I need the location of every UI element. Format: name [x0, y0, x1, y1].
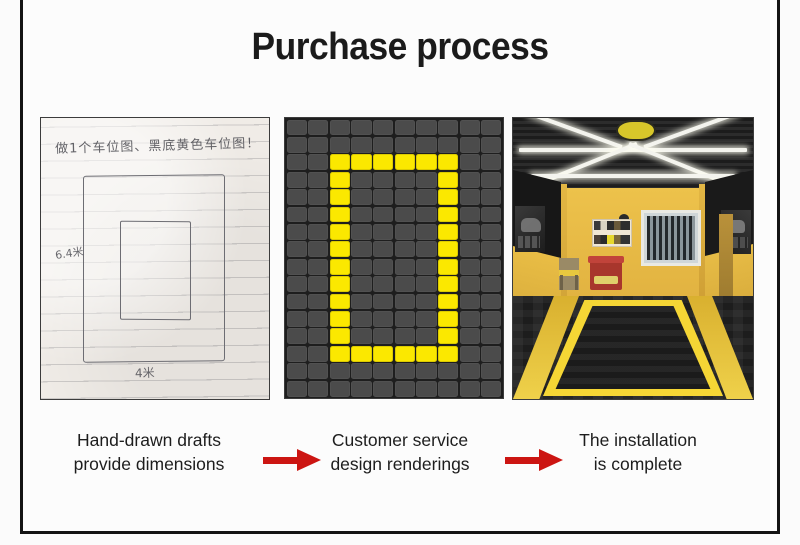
- wall-shelf: [592, 219, 632, 247]
- tile-r12-c8: [460, 328, 480, 344]
- step-2-image-tile-grid-rendering: [284, 117, 504, 399]
- tile-r11-c3: [351, 311, 371, 327]
- tile-r9-c4: [373, 276, 393, 292]
- shelf-row-top: [594, 221, 630, 230]
- tile-r12-c7: [438, 328, 458, 344]
- tile-r13-c5: [395, 346, 415, 362]
- tile-r6-c9: [481, 224, 501, 240]
- step-3-image-installation-photo: [512, 117, 754, 400]
- wooden-chair: [559, 258, 579, 290]
- step-3-caption-line-2: is complete: [538, 452, 738, 476]
- tile-r7-c6: [416, 241, 436, 257]
- tile-r5-c6: [416, 207, 436, 223]
- tile-r8-c2: [330, 259, 350, 275]
- tile-r15-c0: [287, 381, 307, 397]
- tile-r9-c0: [287, 276, 307, 292]
- tile-r14-c1: [308, 363, 328, 379]
- tile-r13-c6: [416, 346, 436, 362]
- tile-r8-c1: [308, 259, 328, 275]
- tile-r14-c4: [373, 363, 393, 379]
- tile-r2-c7: [438, 154, 458, 170]
- tile-r8-c8: [460, 259, 480, 275]
- tile-r10-c1: [308, 294, 328, 310]
- tile-r13-c4: [373, 346, 393, 362]
- tile-r5-c3: [351, 207, 371, 223]
- ceiling-light-1: [519, 148, 747, 152]
- tile-r11-c4: [373, 311, 393, 327]
- tile-r4-c1: [308, 189, 328, 205]
- tile-r1-c7: [438, 137, 458, 153]
- tile-r4-c0: [287, 189, 307, 205]
- tile-r10-c7: [438, 294, 458, 310]
- tile-r5-c2: [330, 207, 350, 223]
- tile-r0-c1: [308, 120, 328, 136]
- tile-r13-c0: [287, 346, 307, 362]
- tile-r7-c8: [460, 241, 480, 257]
- tile-r15-c8: [460, 381, 480, 397]
- step-3-caption-line-1: The installation: [538, 428, 738, 452]
- tile-r10-c9: [481, 294, 501, 310]
- tile-grid: [285, 118, 503, 398]
- poster-swatches-left: [518, 236, 540, 248]
- tile-r4-c3: [351, 189, 371, 205]
- step-2-caption-line-2: design renderings: [300, 452, 500, 476]
- tile-r15-c5: [395, 381, 415, 397]
- tile-r6-c8: [460, 224, 480, 240]
- tile-r2-c0: [287, 154, 307, 170]
- tile-r5-c8: [460, 207, 480, 223]
- tile-r7-c5: [395, 241, 415, 257]
- tile-r3-c0: [287, 172, 307, 188]
- tile-r5-c5: [395, 207, 415, 223]
- tile-r10-c3: [351, 294, 371, 310]
- tile-r11-c0: [287, 311, 307, 327]
- tile-r4-c4: [373, 189, 393, 205]
- tile-r1-c1: [308, 137, 328, 153]
- tile-r12-c5: [395, 328, 415, 344]
- tile-r6-c4: [373, 224, 393, 240]
- tile-r7-c9: [481, 241, 501, 257]
- tile-r1-c4: [373, 137, 393, 153]
- red-bench: [590, 256, 622, 290]
- tile-r13-c8: [460, 346, 480, 362]
- tile-r0-c6: [416, 120, 436, 136]
- tile-r8-c3: [351, 259, 371, 275]
- tile-r12-c2: [330, 328, 350, 344]
- tile-r3-c9: [481, 172, 501, 188]
- wall-poster-left: [515, 206, 545, 252]
- slide-frame-bottom: [20, 531, 780, 534]
- sketch-inner-rectangle: [120, 221, 191, 321]
- tile-r6-c2: [330, 224, 350, 240]
- tile-r12-c0: [287, 328, 307, 344]
- tile-r14-c3: [351, 363, 371, 379]
- tile-r8-c4: [373, 259, 393, 275]
- tile-r0-c9: [481, 120, 501, 136]
- tile-r2-c8: [460, 154, 480, 170]
- tile-r15-c6: [416, 381, 436, 397]
- tile-r1-c6: [416, 137, 436, 153]
- tile-r13-c9: [481, 346, 501, 362]
- tile-r0-c3: [351, 120, 371, 136]
- tile-r14-c9: [481, 363, 501, 379]
- tile-r8-c9: [481, 259, 501, 275]
- tile-r2-c2: [330, 154, 350, 170]
- poster-car-graphic-left: [521, 218, 541, 232]
- tile-r7-c2: [330, 241, 350, 257]
- tile-r15-c3: [351, 381, 371, 397]
- tile-r12-c6: [416, 328, 436, 344]
- tile-r0-c0: [287, 120, 307, 136]
- tile-r6-c5: [395, 224, 415, 240]
- tile-r1-c2: [330, 137, 350, 153]
- tile-r6-c1: [308, 224, 328, 240]
- step-1-caption-line-2: provide dimensions: [38, 452, 260, 476]
- tile-r7-c0: [287, 241, 307, 257]
- step-2-caption: Customer service design renderings: [300, 428, 500, 476]
- tile-r10-c8: [460, 294, 480, 310]
- tile-r0-c8: [460, 120, 480, 136]
- tile-r12-c1: [308, 328, 328, 344]
- bench-cushion: [594, 276, 618, 284]
- tile-r10-c6: [416, 294, 436, 310]
- tile-r8-c7: [438, 259, 458, 275]
- tile-r5-c7: [438, 207, 458, 223]
- tile-r11-c7: [438, 311, 458, 327]
- page-title: Purchase process: [49, 26, 750, 69]
- tile-r9-c7: [438, 276, 458, 292]
- tile-r15-c7: [438, 381, 458, 397]
- tile-r6-c0: [287, 224, 307, 240]
- tile-r11-c2: [330, 311, 350, 327]
- tile-r0-c5: [395, 120, 415, 136]
- tile-r9-c6: [416, 276, 436, 292]
- chair-leg-left: [560, 275, 563, 290]
- step-1-caption: Hand-drawn drafts provide dimensions: [38, 428, 260, 476]
- tile-r9-c5: [395, 276, 415, 292]
- tile-r14-c5: [395, 363, 415, 379]
- tile-r2-c3: [351, 154, 371, 170]
- tile-r14-c2: [330, 363, 350, 379]
- tile-r4-c7: [438, 189, 458, 205]
- tile-r9-c1: [308, 276, 328, 292]
- tile-r0-c4: [373, 120, 393, 136]
- tile-r2-c6: [416, 154, 436, 170]
- tile-r10-c2: [330, 294, 350, 310]
- slide-frame-left: [20, 0, 23, 534]
- tile-r4-c2: [330, 189, 350, 205]
- tile-r15-c4: [373, 381, 393, 397]
- step-2-caption-line-1: Customer service: [300, 428, 500, 452]
- tile-r0-c2: [330, 120, 350, 136]
- bench-top: [588, 256, 624, 263]
- step-3-caption: The installation is complete: [538, 428, 738, 476]
- tile-r4-c8: [460, 189, 480, 205]
- tile-r4-c5: [395, 189, 415, 205]
- tile-r1-c9: [481, 137, 501, 153]
- tile-r10-c0: [287, 294, 307, 310]
- tile-r11-c1: [308, 311, 328, 327]
- tile-r7-c3: [351, 241, 371, 257]
- tile-r3-c4: [373, 172, 393, 188]
- tile-r13-c1: [308, 346, 328, 362]
- tile-r15-c2: [330, 381, 350, 397]
- tile-r11-c6: [416, 311, 436, 327]
- tile-r3-c6: [416, 172, 436, 188]
- tile-r3-c3: [351, 172, 371, 188]
- tile-r3-c1: [308, 172, 328, 188]
- slide-canvas: Purchase process 做1个车位图、黑底黄色车位图！ 6.4米 4米: [0, 0, 800, 545]
- tile-r2-c4: [373, 154, 393, 170]
- tile-r15-c1: [308, 381, 328, 397]
- tile-r12-c3: [351, 328, 371, 344]
- garage-photo: [513, 118, 753, 399]
- tile-r11-c8: [460, 311, 480, 327]
- step-1-image-hand-drawn-draft: 做1个车位图、黑底黄色车位图！ 6.4米 4米: [40, 117, 270, 400]
- tile-r7-c7: [438, 241, 458, 257]
- tile-r1-c8: [460, 137, 480, 153]
- tile-r0-c7: [438, 120, 458, 136]
- tile-r9-c9: [481, 276, 501, 292]
- window-bars: [647, 216, 695, 260]
- tile-r10-c4: [373, 294, 393, 310]
- tile-r10-c5: [395, 294, 415, 310]
- tile-r6-c3: [351, 224, 371, 240]
- tile-r1-c0: [287, 137, 307, 153]
- tile-r2-c9: [481, 154, 501, 170]
- tile-r14-c8: [460, 363, 480, 379]
- dimension-label-bottom: 4米: [135, 364, 155, 382]
- tile-r2-c1: [308, 154, 328, 170]
- ceiling-logo-badge: [616, 120, 656, 141]
- slide-frame-right: [777, 0, 780, 534]
- tile-r9-c3: [351, 276, 371, 292]
- step-1-caption-line-1: Hand-drawn drafts: [38, 428, 260, 452]
- tile-r5-c4: [373, 207, 393, 223]
- tile-r3-c8: [460, 172, 480, 188]
- tile-r6-c7: [438, 224, 458, 240]
- tile-r12-c9: [481, 328, 501, 344]
- tile-r4-c9: [481, 189, 501, 205]
- barred-window: [641, 210, 701, 266]
- tile-r2-c5: [395, 154, 415, 170]
- tile-r3-c2: [330, 172, 350, 188]
- tile-r13-c2: [330, 346, 350, 362]
- tile-r9-c8: [460, 276, 480, 292]
- tile-r3-c7: [438, 172, 458, 188]
- tile-r14-c0: [287, 363, 307, 379]
- tile-r9-c2: [330, 276, 350, 292]
- shelf-row-bottom: [594, 235, 630, 244]
- tile-r4-c6: [416, 189, 436, 205]
- tile-r5-c1: [308, 207, 328, 223]
- tile-r5-c9: [481, 207, 501, 223]
- tile-r11-c9: [481, 311, 501, 327]
- tile-r5-c0: [287, 207, 307, 223]
- tile-r7-c4: [373, 241, 393, 257]
- tile-r8-c6: [416, 259, 436, 275]
- tile-r3-c5: [395, 172, 415, 188]
- tile-r13-c3: [351, 346, 371, 362]
- tile-r11-c5: [395, 311, 415, 327]
- tile-r8-c0: [287, 259, 307, 275]
- tile-r14-c7: [438, 363, 458, 379]
- tile-r6-c6: [416, 224, 436, 240]
- tile-r12-c4: [373, 328, 393, 344]
- lined-paper: 做1个车位图、黑底黄色车位图！ 6.4米 4米: [41, 118, 269, 399]
- tile-r13-c7: [438, 346, 458, 362]
- chair-leg-right: [575, 275, 578, 290]
- tile-r1-c5: [395, 137, 415, 153]
- tile-r7-c1: [308, 241, 328, 257]
- tile-r15-c9: [481, 381, 501, 397]
- ceiling-light-6: [531, 174, 735, 178]
- tile-r1-c3: [351, 137, 371, 153]
- tile-r8-c5: [395, 259, 415, 275]
- tile-r14-c6: [416, 363, 436, 379]
- door-frame: [719, 214, 733, 306]
